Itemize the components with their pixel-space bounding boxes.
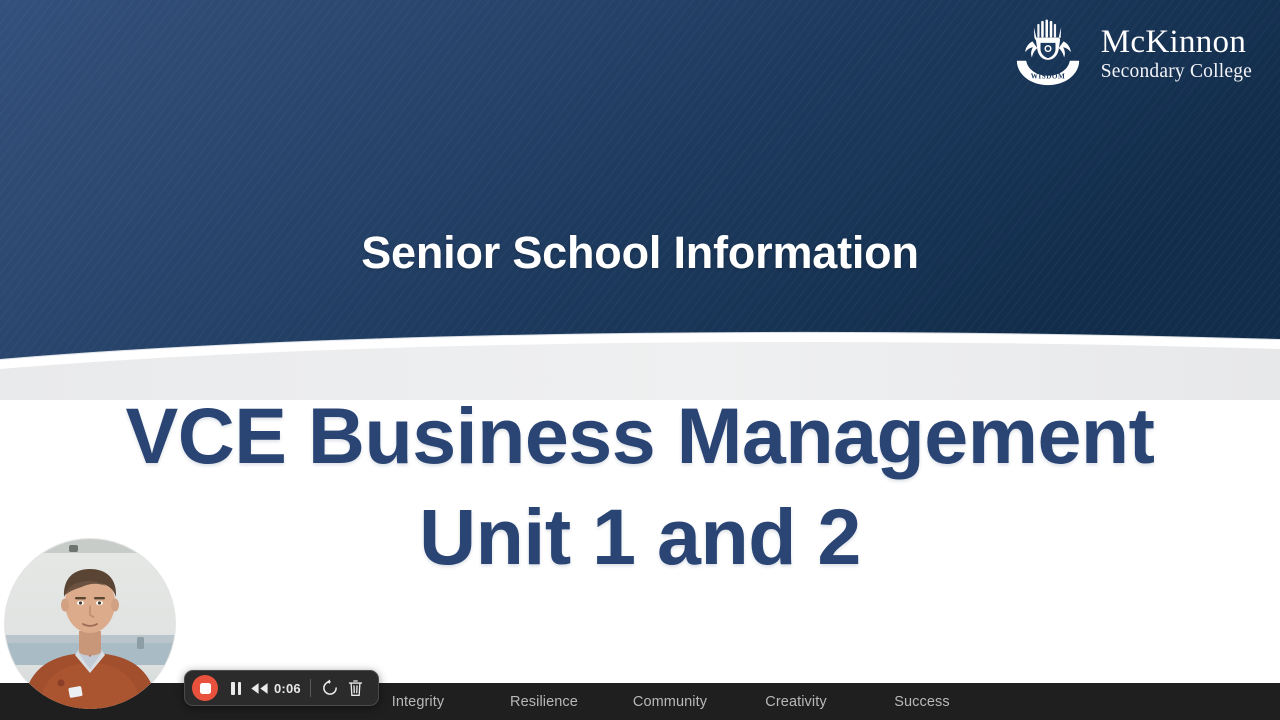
recording-toolbar[interactable]: 0:06 — [184, 670, 379, 706]
value-creativity: Creativity — [733, 694, 859, 710]
rewind-button[interactable] — [247, 676, 271, 700]
value-success: Success — [859, 694, 985, 710]
value-community: Community — [607, 694, 733, 710]
rewind-double-arrow-icon — [250, 682, 269, 695]
presentation-slide: WISDOM & McKinnon Secondary College Seni… — [0, 0, 1280, 720]
restart-circular-arrow-icon — [321, 679, 339, 697]
pause-icon-bar-right — [238, 682, 242, 695]
school-values-list: Integrity Resilience Community Creativit… — [355, 694, 985, 710]
restart-recording-button[interactable] — [319, 677, 342, 700]
pause-recording-button[interactable] — [225, 676, 247, 700]
pause-icon-bar-left — [231, 682, 235, 695]
logo-school-subtitle: Secondary College — [1101, 61, 1252, 83]
main-title-line-2: Unit 1 and 2 — [0, 486, 1280, 587]
slide-subtitle-heading: Senior School Information — [0, 227, 1280, 279]
delete-recording-button[interactable] — [345, 677, 367, 700]
slide-main-title: VCE Business Management Unit 1 and 2 — [0, 385, 1280, 587]
trash-icon — [348, 679, 363, 697]
school-logo: WISDOM & McKinnon Secondary College — [1009, 18, 1252, 90]
value-resilience: Resilience — [481, 694, 607, 710]
logo-school-name: McKinnon — [1101, 25, 1252, 60]
presenter-camera-bubble[interactable] — [5, 539, 175, 709]
recording-elapsed-time: 0:06 — [271, 681, 306, 696]
stop-square-icon — [200, 683, 211, 694]
main-title-line-1: VCE Business Management — [126, 391, 1155, 480]
school-crest-thistle-icon: WISDOM & — [1009, 18, 1087, 90]
stop-recording-button[interactable] — [192, 675, 218, 701]
svg-text:WISDOM: WISDOM — [1031, 72, 1065, 80]
toolbar-divider — [310, 679, 311, 697]
